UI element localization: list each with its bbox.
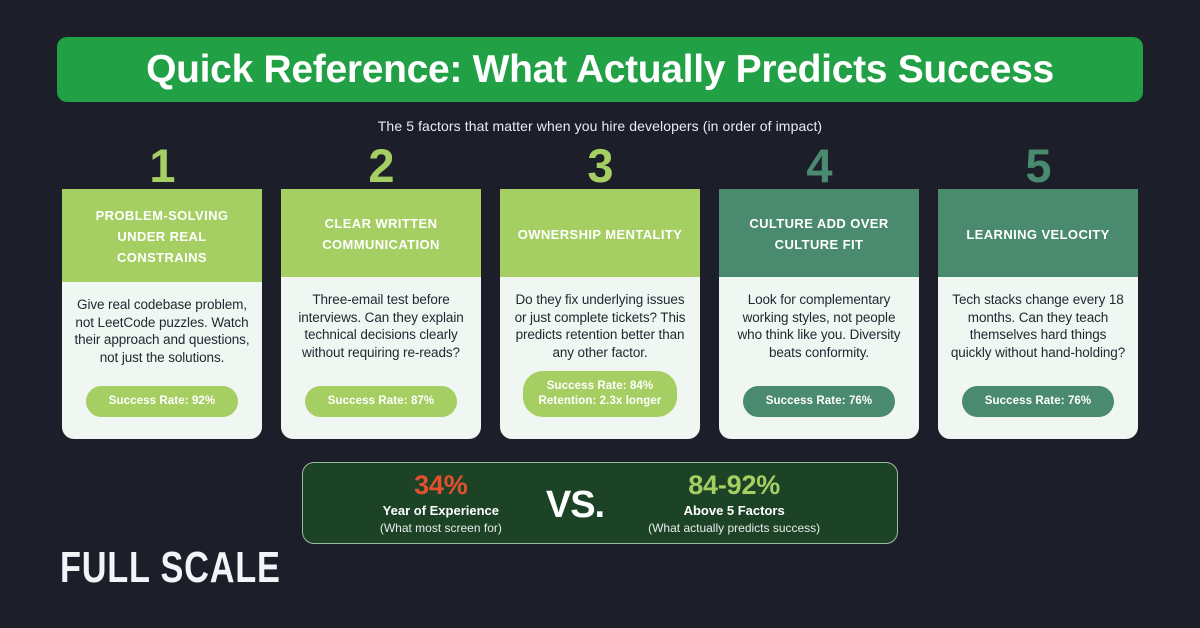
comparison-box: 34% Year of Experience (What most screen… <box>302 462 898 544</box>
pill-line: Success Rate: 84% <box>539 379 662 394</box>
factor-rank-number: 1 <box>149 145 174 189</box>
factor-card-body-wrap: CULTURE ADD OVER CULTURE FITLook for com… <box>719 189 919 439</box>
factor-card-body-wrap: CLEAR WRITTEN COMMUNICATIONThree-email t… <box>281 189 481 439</box>
pill-line: Success Rate: 76% <box>759 394 879 409</box>
factor-card-description: Three-email test before interviews. Can … <box>293 291 469 361</box>
factor-card-3: 3OWNERSHIP MENTALITYDo they fix underlyi… <box>500 145 700 439</box>
factor-card-header: PROBLEM-SOLVING UNDER REAL CONSTRAINS <box>62 189 262 282</box>
factor-card-description: Do they fix underlying issues or just co… <box>512 291 688 361</box>
factor-card-title: CLEAR WRITTEN COMMUNICATION <box>291 213 471 255</box>
factor-card-body-wrap: PROBLEM-SOLVING UNDER REAL CONSTRAINSGiv… <box>62 189 262 439</box>
pill-line: Success Rate: 92% <box>102 394 222 409</box>
factor-success-rate-pill: Success Rate: 76% <box>962 386 1114 417</box>
factor-card-content: Look for complementary working styles, n… <box>719 277 919 439</box>
comparison-left: 34% Year of Experience (What most screen… <box>380 470 502 536</box>
pill-line: Success Rate: 76% <box>978 394 1098 409</box>
factor-success-rate-pill: Success Rate: 84%Retention: 2.3x longer <box>523 371 678 417</box>
factor-card-description: Look for complementary working styles, n… <box>731 291 907 361</box>
factor-card-header: OWNERSHIP MENTALITY <box>500 189 700 277</box>
pill-line: Retention: 2.3x longer <box>539 394 662 409</box>
factor-card-4: 4CULTURE ADD OVER CULTURE FITLook for co… <box>719 145 919 439</box>
comparison-left-label: Year of Experience <box>380 503 502 519</box>
factor-card-content: Tech stacks change every 18 months. Can … <box>938 277 1138 439</box>
title-banner: Quick Reference: What Actually Predicts … <box>57 37 1143 102</box>
factor-card-body-wrap: OWNERSHIP MENTALITYDo they fix underlyin… <box>500 189 700 439</box>
factor-card-description: Give real codebase problem, not LeetCode… <box>74 296 250 366</box>
factor-card-header: CULTURE ADD OVER CULTURE FIT <box>719 189 919 277</box>
factor-card-header: LEARNING VELOCITY <box>938 189 1138 277</box>
factor-card-header: CLEAR WRITTEN COMMUNICATION <box>281 189 481 277</box>
pill-line: Success Rate: 87% <box>321 394 441 409</box>
factor-success-rate-pill: Success Rate: 87% <box>305 386 457 417</box>
factor-card-1: 1PROBLEM-SOLVING UNDER REAL CONSTRAINSGi… <box>62 145 262 439</box>
comparison-left-value: 34% <box>380 470 502 500</box>
comparison-left-note: (What most screen for) <box>380 521 502 536</box>
page-subtitle: The 5 factors that matter when you hire … <box>0 118 1200 134</box>
factor-card-2: 2CLEAR WRITTEN COMMUNICATIONThree-email … <box>281 145 481 439</box>
comparison-separator: VS. <box>546 486 604 524</box>
factor-card-content: Give real codebase problem, not LeetCode… <box>62 282 262 439</box>
factor-card-description: Tech stacks change every 18 months. Can … <box>950 291 1126 361</box>
infographic-canvas: Quick Reference: What Actually Predicts … <box>0 0 1200 628</box>
factor-rank-number: 3 <box>587 145 612 189</box>
page-title: Quick Reference: What Actually Predicts … <box>146 50 1054 89</box>
factor-card-title: PROBLEM-SOLVING UNDER REAL CONSTRAINS <box>72 205 252 268</box>
factor-rank-number: 5 <box>1025 145 1050 189</box>
full-scale-logo: FULL SCALE <box>60 545 343 591</box>
factor-card-title: LEARNING VELOCITY <box>966 224 1109 245</box>
factor-card-title: CULTURE ADD OVER CULTURE FIT <box>729 213 909 255</box>
logo-wordmark: FULL SCALE <box>60 545 281 591</box>
factor-card-body-wrap: LEARNING VELOCITYTech stacks change ever… <box>938 189 1138 439</box>
factor-rank-number: 2 <box>368 145 393 189</box>
factor-cards-row: 1PROBLEM-SOLVING UNDER REAL CONSTRAINSGi… <box>62 145 1138 439</box>
factor-card-content: Do they fix underlying issues or just co… <box>500 277 700 439</box>
comparison-right: 84-92% Above 5 Factors (What actually pr… <box>648 470 820 536</box>
factor-success-rate-pill: Success Rate: 92% <box>86 386 238 417</box>
comparison-right-note: (What actually predicts success) <box>648 521 820 536</box>
comparison-right-label: Above 5 Factors <box>648 503 820 519</box>
factor-success-rate-pill: Success Rate: 76% <box>743 386 895 417</box>
comparison-right-value: 84-92% <box>648 470 820 500</box>
factor-card-5: 5LEARNING VELOCITYTech stacks change eve… <box>938 145 1138 439</box>
factor-card-title: OWNERSHIP MENTALITY <box>518 224 683 245</box>
factor-card-content: Three-email test before interviews. Can … <box>281 277 481 439</box>
factor-rank-number: 4 <box>806 145 831 189</box>
